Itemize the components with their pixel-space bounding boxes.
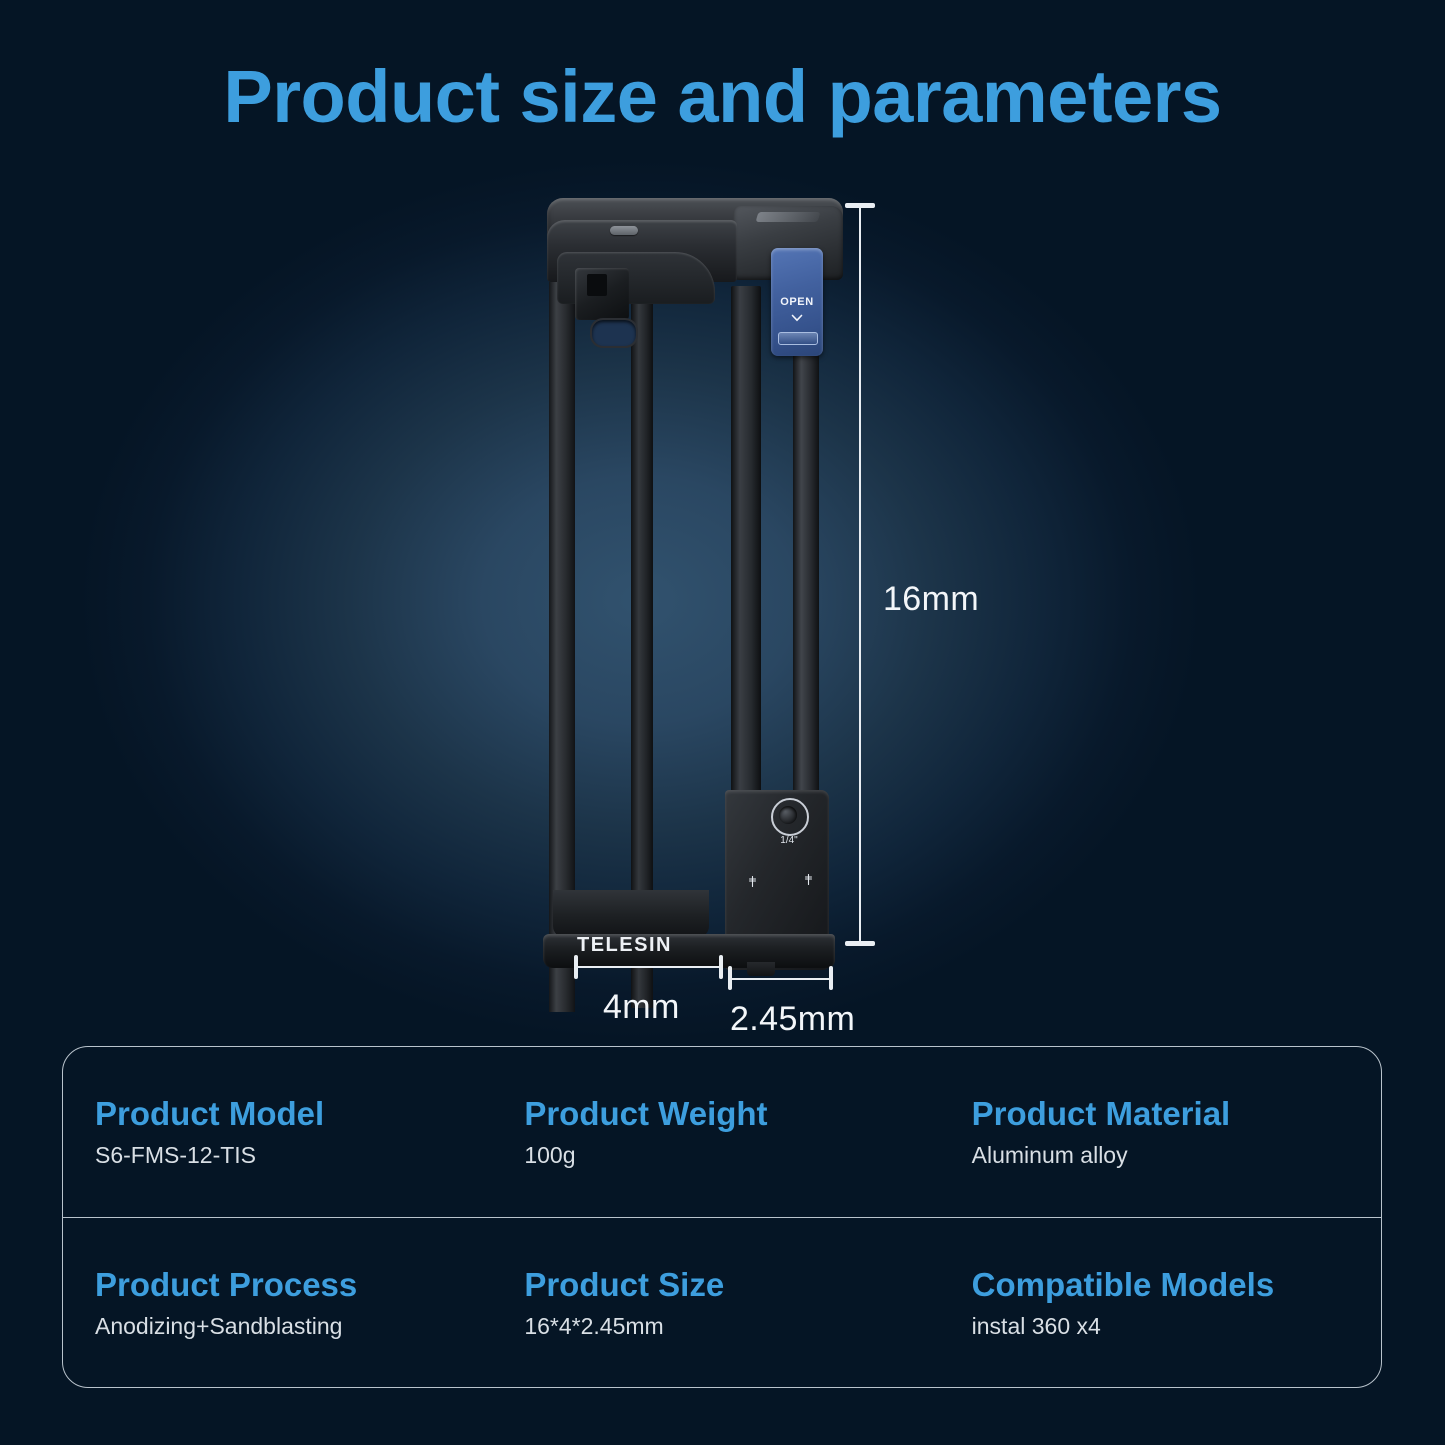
spec-row-1: Product Model S6-FMS-12-TIS Product Weig…: [63, 1047, 1381, 1218]
spec-value-product-size: 16*4*2.45mm: [524, 1313, 941, 1341]
dimension-cap-width-left: [574, 955, 578, 979]
dimension-label-width: 4mm: [603, 988, 680, 1027]
chevron-down-icon: [791, 312, 803, 324]
cage-top-slot: [610, 226, 638, 235]
alignment-arrow-icon-right: [803, 874, 814, 885]
product-image: OPEN 1/4" TELESIN: [535, 190, 845, 970]
spec-value-product-weight: 100g: [524, 1142, 941, 1170]
spec-cell-product-weight: Product Weight 100g: [502, 1047, 941, 1217]
dimension-cap-height-bottom: [845, 941, 875, 946]
cage-bottom-tab: [747, 962, 775, 976]
open-latch-grip: [778, 332, 818, 345]
spec-key-product-weight: Product Weight: [524, 1095, 941, 1133]
spec-cell-product-model: Product Model S6-FMS-12-TIS: [63, 1047, 502, 1217]
spec-value-compatible-models: instal 360 x4: [972, 1313, 1381, 1341]
spec-cell-product-process: Product Process Anodizing+Sandblasting: [63, 1218, 502, 1389]
spec-value-product-process: Anodizing+Sandblasting: [95, 1313, 502, 1341]
spec-key-product-process: Product Process: [95, 1266, 502, 1304]
dimension-line-depth: [729, 978, 833, 980]
cage-clamp-notch: [587, 274, 607, 296]
dimension-cap-height-top: [845, 203, 875, 208]
specification-table: Product Model S6-FMS-12-TIS Product Weig…: [62, 1046, 1382, 1388]
brand-logo: TELESIN: [577, 934, 717, 957]
dimension-cap-depth-left: [728, 966, 732, 990]
dimension-line-height: [859, 205, 861, 945]
dimension-cap-width-right: [719, 955, 723, 979]
spec-key-compatible-models: Compatible Models: [972, 1266, 1381, 1304]
spec-value-product-model: S6-FMS-12-TIS: [95, 1142, 502, 1170]
dimension-line-width: [575, 966, 723, 968]
alignment-arrow-icon-left: [747, 876, 758, 887]
page-title: Product size and parameters: [0, 56, 1445, 137]
spec-cell-product-size: Product Size 16*4*2.45mm: [502, 1218, 941, 1389]
spec-key-product-model: Product Model: [95, 1095, 502, 1133]
open-latch-label: OPEN: [771, 296, 823, 308]
dimension-cap-depth-right: [829, 966, 833, 990]
spec-row-2: Product Process Anodizing+Sandblasting P…: [63, 1218, 1381, 1389]
spec-cell-compatible-models: Compatible Models instal 360 x4: [942, 1218, 1381, 1389]
product-spec-page: Product size and parameters OPEN 1/4": [0, 0, 1445, 1445]
dimension-label-height: 16mm: [883, 580, 979, 619]
open-latch[interactable]: OPEN: [771, 248, 823, 356]
cage-bottom-inner: [553, 890, 709, 938]
cage-strap-slot: [590, 318, 638, 348]
dimension-label-depth: 2.45mm: [730, 1000, 855, 1039]
cage-top-etching: [756, 212, 821, 222]
spec-value-product-material: Aluminum alloy: [972, 1142, 1381, 1170]
tripod-thread-label: 1/4": [769, 835, 809, 846]
spec-key-product-size: Product Size: [524, 1266, 941, 1304]
spec-cell-product-material: Product Material Aluminum alloy: [942, 1047, 1381, 1217]
spec-key-product-material: Product Material: [972, 1095, 1381, 1133]
tripod-thread-hole: [779, 806, 797, 824]
